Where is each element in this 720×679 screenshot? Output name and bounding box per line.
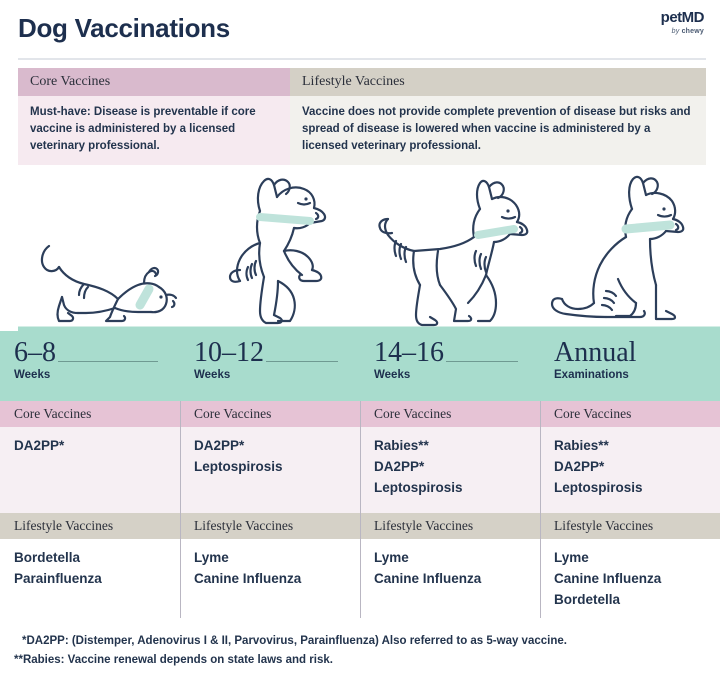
lifestyle-heading-col-4: Lifestyle Vaccines	[540, 513, 720, 539]
legend-core-heading: Core Vaccines	[18, 68, 290, 96]
petmd-logo: petMD by chewy	[661, 10, 704, 35]
lifestyle-list-col-1: Bordetella Parainfluenza	[0, 539, 180, 618]
core-vaccines-body-row: DA2PP* DA2PP* Leptospirosis Rabies** DA2…	[0, 427, 720, 513]
list-item: Rabies**	[554, 435, 720, 456]
legend-core: Core Vaccines Must-have: Disease is prev…	[18, 68, 290, 165]
puppy-standing-upright-icon	[198, 171, 378, 331]
core-list-col-3: Rabies** DA2PP* Leptospirosis	[360, 427, 540, 513]
legend-lifestyle-description: Vaccine does not provide complete preven…	[290, 96, 706, 165]
list-item: Bordetella	[554, 589, 720, 610]
list-item: DA2PP*	[554, 456, 720, 477]
age-unit: Examinations	[554, 368, 720, 382]
age-unit: Weeks	[374, 368, 540, 382]
lifestyle-heading-col-2: Lifestyle Vaccines	[180, 513, 360, 539]
dog-illustrations	[0, 171, 720, 331]
list-item: Bordetella	[14, 547, 180, 568]
vaccine-table: Core Vaccines Core Vaccines Core Vaccine…	[0, 401, 720, 618]
age-heading-row: 14–16	[374, 337, 540, 369]
list-item: Canine Influenza	[374, 568, 540, 589]
age-number: Annual	[554, 337, 636, 369]
legend-lifestyle: Lifestyle Vaccines Vaccine does not prov…	[290, 68, 706, 165]
page-title: Dog Vaccinations	[18, 12, 706, 44]
age-rule	[58, 361, 158, 363]
age-number: 10–12	[194, 337, 264, 369]
lifestyle-list-col-2: Lyme Canine Influenza	[180, 539, 360, 618]
age-number: 6–8	[14, 337, 56, 369]
list-item: Canine Influenza	[554, 568, 720, 589]
list-item: Canine Influenza	[194, 568, 360, 589]
age-column-4: Annual Examinations	[540, 331, 720, 401]
age-unit: Weeks	[14, 368, 180, 382]
core-heading-col-1: Core Vaccines	[0, 401, 180, 427]
brand-tagline: by chewy	[661, 28, 704, 35]
core-list-col-4: Rabies** DA2PP* Leptospirosis	[540, 427, 720, 513]
age-band: 6–8 Weeks 10–12 Weeks 14–16 Weeks Annual…	[0, 331, 720, 401]
core-heading-col-4: Core Vaccines	[540, 401, 720, 427]
lifestyle-vaccines-header-row: Lifestyle Vaccines Lifestyle Vaccines Li…	[0, 513, 720, 539]
core-heading-col-3: Core Vaccines	[360, 401, 540, 427]
lifestyle-heading-col-1: Lifestyle Vaccines	[0, 513, 180, 539]
dog-sitting-icon	[540, 171, 720, 331]
list-item: Leptospirosis	[194, 456, 360, 477]
list-item: DA2PP*	[374, 456, 540, 477]
age-column-3: 14–16 Weeks	[360, 331, 540, 401]
age-column-1: 6–8 Weeks	[0, 331, 180, 401]
legend-core-description: Must-have: Disease is preventable if cor…	[18, 96, 290, 165]
age-rule	[446, 361, 518, 363]
age-heading-row: Annual	[554, 337, 720, 369]
list-item: Parainfluenza	[14, 568, 180, 589]
footnote-da2pp: *DA2PP: (Distemper, Adenovirus I & II, P…	[22, 632, 706, 651]
puppy-play-bow-icon	[18, 171, 198, 331]
age-unit: Weeks	[194, 368, 360, 382]
core-list-col-1: DA2PP*	[0, 427, 180, 513]
brand-parent-name: chewy	[682, 28, 704, 35]
lifestyle-vaccines-body-row: Bordetella Parainfluenza Lyme Canine Inf…	[0, 539, 720, 618]
list-item: DA2PP*	[194, 435, 360, 456]
list-item: Rabies**	[374, 435, 540, 456]
list-item: Lyme	[194, 547, 360, 568]
list-item: DA2PP*	[14, 435, 180, 456]
age-column-2: 10–12 Weeks	[180, 331, 360, 401]
core-heading-col-2: Core Vaccines	[180, 401, 360, 427]
core-list-col-2: DA2PP* Leptospirosis	[180, 427, 360, 513]
list-item: Lyme	[374, 547, 540, 568]
age-number: 14–16	[374, 337, 444, 369]
list-item: Leptospirosis	[554, 477, 720, 498]
footnotes: *DA2PP: (Distemper, Adenovirus I & II, P…	[0, 618, 720, 670]
brand-name: petMD	[661, 10, 704, 25]
lifestyle-list-col-3: Lyme Canine Influenza	[360, 539, 540, 618]
title-divider	[18, 58, 706, 60]
brand-by-text: by	[672, 28, 682, 35]
page-header: Dog Vaccinations petMD by chewy	[0, 0, 720, 54]
lifestyle-heading-col-3: Lifestyle Vaccines	[360, 513, 540, 539]
list-item: Leptospirosis	[374, 477, 540, 498]
age-rule	[266, 361, 338, 363]
legend-lifestyle-heading: Lifestyle Vaccines	[290, 68, 706, 96]
lifestyle-list-col-4: Lyme Canine Influenza Bordetella	[540, 539, 720, 618]
legend: Core Vaccines Must-have: Disease is prev…	[18, 68, 706, 165]
dog-walking-icon	[368, 171, 548, 331]
age-heading-row: 6–8	[14, 337, 180, 369]
core-vaccines-header-row: Core Vaccines Core Vaccines Core Vaccine…	[0, 401, 720, 427]
age-heading-row: 10–12	[194, 337, 360, 369]
list-item: Lyme	[554, 547, 720, 568]
footnote-rabies: **Rabies: Vaccine renewal depends on sta…	[14, 651, 706, 670]
